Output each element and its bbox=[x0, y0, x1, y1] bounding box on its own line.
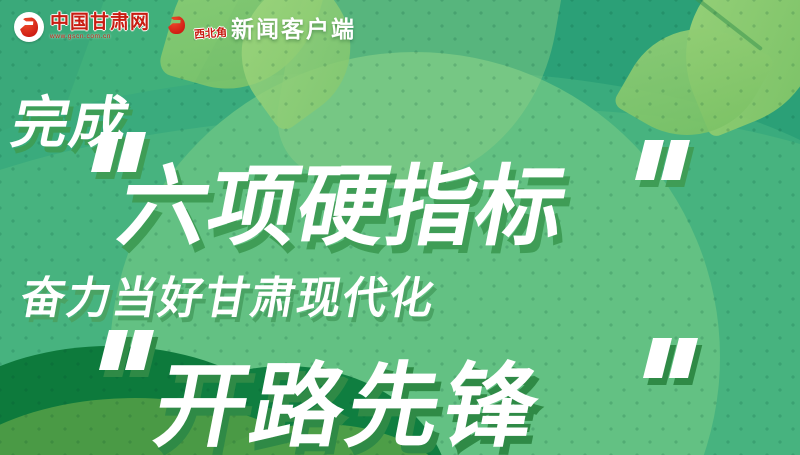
xibeijiao-flame-logo-icon bbox=[164, 14, 190, 40]
quote-open-upper-icon bbox=[96, 132, 141, 172]
logo-gansu-net-name: 中国甘肃网 bbox=[50, 13, 150, 32]
logo-bar: 中国甘肃网 www.gscn.com.cn 西北角 新闻客户端 bbox=[14, 10, 356, 44]
headline-line-3: 奋力当好甘肃现代化 bbox=[16, 262, 441, 326]
quote-open-lower-icon bbox=[104, 330, 149, 370]
headline-line-4: 开路先锋 bbox=[145, 332, 555, 455]
logo-news-client-name: 新闻客户端 bbox=[231, 10, 356, 44]
headline-line-2: 六项硬指标 bbox=[110, 136, 580, 263]
logo-gansu-net-url: www.gscn.com.cn bbox=[50, 34, 150, 41]
quote-close-upper-icon bbox=[640, 140, 685, 180]
logo-news-client-subname: 西北角 bbox=[193, 24, 227, 42]
quote-close-lower-icon bbox=[648, 338, 693, 378]
gansu-net-flame-logo-icon bbox=[14, 12, 44, 42]
leaf-vein-icon bbox=[685, 0, 763, 51]
logo-gansu-net[interactable]: 中国甘肃网 www.gscn.com.cn bbox=[14, 12, 150, 42]
poster-canvas: 中国甘肃网 www.gscn.com.cn 西北角 新闻客户端 完成 六项硬指标… bbox=[0, 0, 800, 455]
leaf-decor-top-right-icon bbox=[655, 0, 800, 139]
logo-news-client[interactable]: 西北角 新闻客户端 bbox=[164, 10, 356, 44]
leaf-decor-top-right-2-icon bbox=[612, 0, 776, 164]
